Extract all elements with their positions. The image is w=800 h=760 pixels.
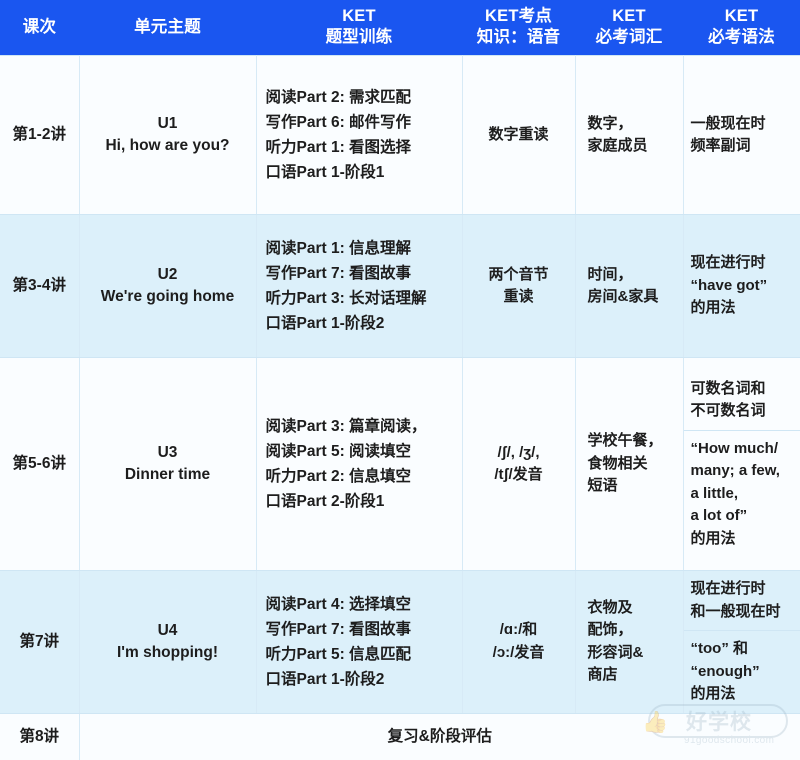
header-row: 课次 单元主题 KET 题型训练 KET考点 知识：语音 KET 必考词汇 [0, 0, 800, 56]
grammar-line: “too” 和 [691, 638, 799, 661]
cell-lesson: 第7讲 [0, 571, 79, 714]
grammar-line: 现在进行时 [691, 578, 799, 601]
cell-lesson: 第3-4讲 [0, 215, 79, 358]
column-header-vocab-line1: KET [577, 6, 681, 27]
column-header-phonics-line1: KET考点 [464, 6, 573, 27]
training-line: 听力Part 2: 信息填空 [266, 464, 459, 489]
grammar-line: 的用法 [691, 683, 799, 706]
unit-code: U4 [83, 620, 253, 642]
vocab-line: 数字， [588, 113, 680, 136]
vocab-line: 房间&家具 [588, 286, 680, 309]
grammar-line: 频率副词 [691, 135, 799, 158]
unit-code: U1 [83, 113, 253, 135]
training-line: 听力Part 5: 信息匹配 [266, 642, 459, 667]
column-header-vocab-line2: 必考词汇 [577, 27, 681, 48]
training-line: 口语Part 1-阶段2 [266, 311, 459, 336]
grammar-line: “How much/ [691, 438, 799, 461]
column-header-unit-line1: 单元主题 [81, 17, 254, 38]
training-line: 阅读Part 3: 篇章阅读， [266, 414, 459, 439]
grammar-block: “too” 和“enough”的用法 [684, 630, 800, 713]
grammar-line: a little, [691, 483, 799, 506]
cell-lesson: 第5-6讲 [0, 358, 79, 571]
ket-course-table: 课次 单元主题 KET 题型训练 KET考点 知识：语音 KET 必考词汇 [0, 0, 800, 760]
unit-title: Dinner time [83, 464, 253, 486]
training-line: 听力Part 1: 看图选择 [266, 135, 459, 160]
cell-unit: U3Dinner time [79, 358, 256, 571]
cell-training: 阅读Part 1: 信息理解写作Part 7: 看图故事听力Part 3: 长对… [256, 215, 462, 358]
cell-grammar: 现在进行时“have got”的用法 [683, 215, 800, 358]
cell-lesson: 第8讲 [0, 713, 79, 760]
training-line: 写作Part 7: 看图故事 [266, 617, 459, 642]
table-row: 第3-4讲U2We're going home阅读Part 1: 信息理解写作P… [0, 215, 800, 358]
cell-lesson: 第1-2讲 [0, 56, 79, 215]
phonics-line: 两个音节 [466, 264, 572, 287]
table-row: 第5-6讲U3Dinner time阅读Part 3: 篇章阅读，阅读Part … [0, 358, 800, 571]
phonics-line: 重读 [466, 286, 572, 309]
training-line: 口语Part 2-阶段1 [266, 489, 459, 514]
training-line: 写作Part 7: 看图故事 [266, 261, 459, 286]
training-line: 听力Part 3: 长对话理解 [266, 286, 459, 311]
table-row: 第1-2讲U1Hi, how are you?阅读Part 2: 需求匹配写作P… [0, 56, 800, 215]
cell-training: 阅读Part 4: 选择填空写作Part 7: 看图故事听力Part 5: 信息… [256, 571, 462, 714]
grammar-block: 一般现在时频率副词 [684, 106, 800, 165]
grammar-block: 可数名词和不可数名词 [684, 371, 800, 430]
cell-review-summary: 复习&阶段评估 [79, 713, 800, 760]
grammar-line: 可数名词和 [691, 378, 799, 401]
cell-grammar: 现在进行时和一般现在时“too” 和“enough”的用法 [683, 571, 800, 714]
training-line: 写作Part 6: 邮件写作 [266, 110, 459, 135]
cell-grammar: 可数名词和不可数名词“How much/many; a few, a littl… [683, 358, 800, 571]
vocab-line: 家庭成员 [588, 135, 680, 158]
phonics-line: /tʃ/发音 [466, 464, 572, 487]
vocab-line: 时间， [588, 264, 680, 287]
grammar-line: 一般现在时 [691, 113, 799, 136]
grammar-line: 的用法 [691, 297, 799, 320]
training-line: 口语Part 1-阶段2 [266, 667, 459, 692]
phonics-line: /ɔ:/发音 [466, 642, 572, 665]
cell-unit: U4I'm shopping! [79, 571, 256, 714]
vocab-line: 配饰， [588, 619, 680, 642]
grammar-line: 不可数名词 [691, 400, 799, 423]
column-header-training-line1: KET [258, 6, 460, 27]
grammar-line: many; a few, [691, 460, 799, 483]
training-line: 阅读Part 1: 信息理解 [266, 236, 459, 261]
training-line: 阅读Part 4: 选择填空 [266, 592, 459, 617]
cell-phonics: 数字重读 [462, 56, 575, 215]
grammar-line: 现在进行时 [691, 252, 799, 275]
cell-phonics: 两个音节重读 [462, 215, 575, 358]
grammar-line: “have got” [691, 275, 799, 298]
grammar-line: “enough” [691, 661, 799, 684]
cell-unit: U1Hi, how are you? [79, 56, 256, 215]
vocab-line: 商店 [588, 664, 680, 687]
unit-title: We're going home [83, 286, 253, 308]
column-header-unit: 单元主题 [79, 0, 256, 56]
phonics-line: /ʃ/, /ʒ/, [466, 442, 572, 465]
column-header-grammar-line2: 必考语法 [685, 27, 798, 48]
training-line: 口语Part 1-阶段1 [266, 160, 459, 185]
cell-vocab: 衣物及配饰，形容词&商店 [575, 571, 683, 714]
cell-vocab: 学校午餐，食物相关短语 [575, 358, 683, 571]
grammar-block: “How much/many; a few, a little,a lot of… [684, 430, 800, 558]
unit-title: Hi, how are you? [83, 135, 253, 157]
column-header-lesson: 课次 [0, 0, 79, 56]
column-header-grammar-line1: KET [685, 6, 798, 27]
cell-phonics: /ʃ/, /ʒ/,/tʃ/发音 [462, 358, 575, 571]
table-row-review: 第8讲复习&阶段评估 [0, 713, 800, 760]
unit-title: I'm shopping! [83, 642, 253, 664]
table-header: 课次 单元主题 KET 题型训练 KET考点 知识：语音 KET 必考词汇 [0, 0, 800, 56]
column-header-phonics-line2: 知识：语音 [464, 27, 573, 48]
column-header-vocab: KET 必考词汇 [575, 0, 683, 56]
phonics-line: 数字重读 [466, 124, 572, 147]
grammar-block: 现在进行时“have got”的用法 [684, 245, 800, 327]
course-schedule-sheet: 课次 单元主题 KET 题型训练 KET考点 知识：语音 KET 必考词汇 [0, 0, 800, 760]
table-body: 第1-2讲U1Hi, how are you?阅读Part 2: 需求匹配写作P… [0, 56, 800, 760]
phonics-line: /ɑ:/和 [466, 619, 572, 642]
unit-code: U2 [83, 264, 253, 286]
column-header-grammar: KET 必考语法 [683, 0, 800, 56]
vocab-line: 形容词& [588, 642, 680, 665]
cell-grammar: 一般现在时频率副词 [683, 56, 800, 215]
column-header-training-line2: 题型训练 [258, 27, 460, 48]
vocab-line: 短语 [588, 475, 680, 498]
training-line: 阅读Part 5: 阅读填空 [266, 439, 459, 464]
cell-vocab: 时间，房间&家具 [575, 215, 683, 358]
grammar-block: 现在进行时和一般现在时 [684, 571, 800, 630]
column-header-lesson-line1: 课次 [2, 17, 77, 38]
cell-vocab: 数字，家庭成员 [575, 56, 683, 215]
grammar-line: 和一般现在时 [691, 601, 799, 624]
vocab-line: 食物相关 [588, 453, 680, 476]
cell-training: 阅读Part 3: 篇章阅读，阅读Part 5: 阅读填空听力Part 2: 信… [256, 358, 462, 571]
training-line: 阅读Part 2: 需求匹配 [266, 85, 459, 110]
cell-phonics: /ɑ:/和/ɔ:/发音 [462, 571, 575, 714]
vocab-line: 衣物及 [588, 597, 680, 620]
vocab-line: 学校午餐， [588, 430, 680, 453]
column-header-training: KET 题型训练 [256, 0, 462, 56]
grammar-line: a lot of” [691, 505, 799, 528]
column-header-phonics: KET考点 知识：语音 [462, 0, 575, 56]
cell-unit: U2We're going home [79, 215, 256, 358]
unit-code: U3 [83, 442, 253, 464]
cell-training: 阅读Part 2: 需求匹配写作Part 6: 邮件写作听力Part 1: 看图… [256, 56, 462, 215]
table-row: 第7讲U4I'm shopping!阅读Part 4: 选择填空写作Part 7… [0, 571, 800, 714]
grammar-line: 的用法 [691, 528, 799, 551]
